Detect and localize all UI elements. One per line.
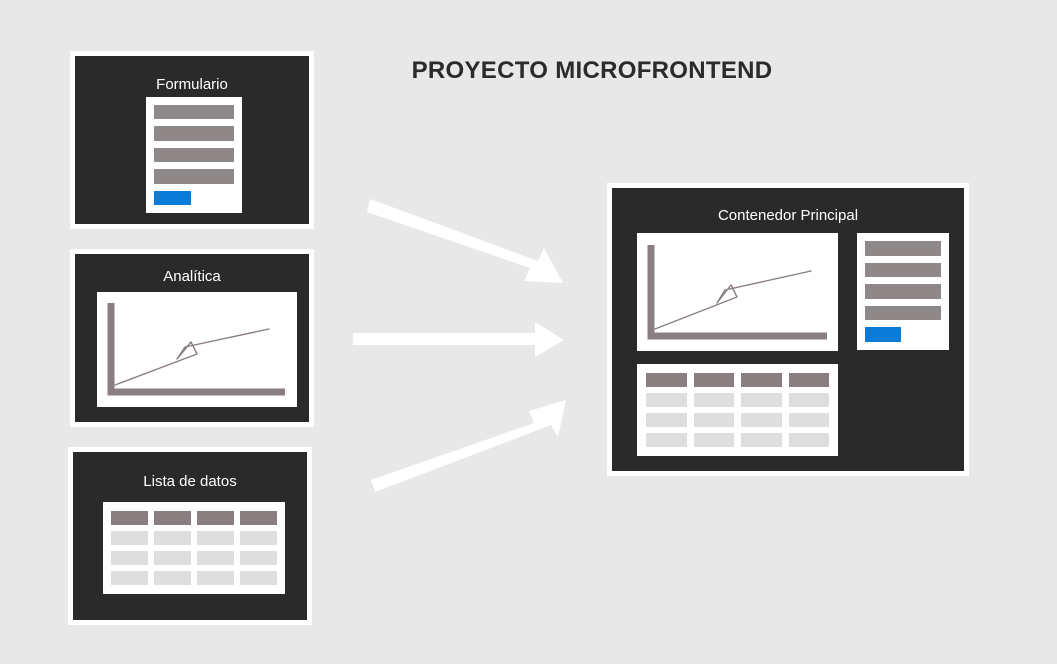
table-row[interactable] [111,551,277,565]
card-formulario[interactable]: Formulario [70,51,314,229]
form-field-3[interactable] [154,148,234,162]
table-cell [154,551,191,565]
table-cell [240,571,277,585]
card-body: Lista de datos [73,452,307,620]
table-header-cell [741,373,782,387]
form-widget [857,233,949,350]
form-field-1[interactable] [865,241,941,256]
form-submit-button[interactable] [154,191,191,205]
form-submit-button[interactable] [865,327,901,342]
table-cell [741,433,782,447]
chart-mock [97,292,297,407]
table-cell [694,393,735,407]
chart-axis [651,245,827,336]
form-mock [146,97,242,213]
chart-widget [637,233,838,351]
line-chart-svg [637,233,838,351]
table-header-row [646,373,829,387]
table-cell [240,531,277,545]
card-body: Formulario [75,56,309,224]
diagram-canvas: PROYECTO MICROFRONTEND Formulario Analít… [0,0,1057,664]
table-row[interactable] [111,571,277,585]
card-body: Analítica [75,254,309,422]
table-cell [646,393,687,407]
arrow-chart-to-container [353,322,564,357]
form-field-3[interactable] [865,284,941,299]
form-field-2[interactable] [154,126,234,140]
card-contenedor-principal[interactable]: Contenedor Principal [607,183,969,476]
card-title-contenedor-principal: Contenedor Principal [612,207,964,224]
table-cell [197,531,234,545]
chart-trend-line [115,329,269,385]
table-row[interactable] [646,393,829,407]
table-cell [646,413,687,427]
table-row[interactable] [646,433,829,447]
table-cell [197,571,234,585]
page-title: PROYECTO MICROFRONTEND [340,57,844,85]
table-cell [154,531,191,545]
arrow-form-to-container [367,199,563,283]
table-cell [694,413,735,427]
table-cell [741,393,782,407]
card-title-lista-de-datos: Lista de datos [73,473,307,490]
table-cell [111,531,148,545]
table-header-cell [789,373,830,387]
table-header-cell [646,373,687,387]
table-cell [111,571,148,585]
table-header-cell [197,511,234,525]
table-widget [637,364,838,456]
table-header-cell [694,373,735,387]
table-header-cell [111,511,148,525]
table-cell [240,551,277,565]
table-header-row [111,511,277,525]
form-field-1[interactable] [154,105,234,119]
table-cell [646,433,687,447]
table-cell [154,571,191,585]
table-header-cell [154,511,191,525]
form-field-4[interactable] [865,306,941,321]
card-title-analitica: Analítica [75,268,309,285]
table-cell [789,413,830,427]
table-mock [103,502,285,594]
table-cell [694,433,735,447]
line-chart-svg [97,292,297,407]
form-field-4[interactable] [154,169,234,183]
table-row[interactable] [111,531,277,545]
table-cell [789,433,830,447]
table-cell [741,413,782,427]
chart-axis [111,303,285,392]
card-analitica[interactable]: Analítica [70,249,314,427]
table-cell [197,551,234,565]
table-cell [789,393,830,407]
card-body: Contenedor Principal [612,188,964,471]
table-header-cell [240,511,277,525]
form-field-2[interactable] [865,263,941,278]
table-cell [111,551,148,565]
arrow-table-to-container [371,400,566,492]
card-title-formulario: Formulario [75,76,309,93]
chart-trend-line [655,271,811,329]
table-row[interactable] [646,413,829,427]
card-lista-de-datos[interactable]: Lista de datos [68,447,312,625]
